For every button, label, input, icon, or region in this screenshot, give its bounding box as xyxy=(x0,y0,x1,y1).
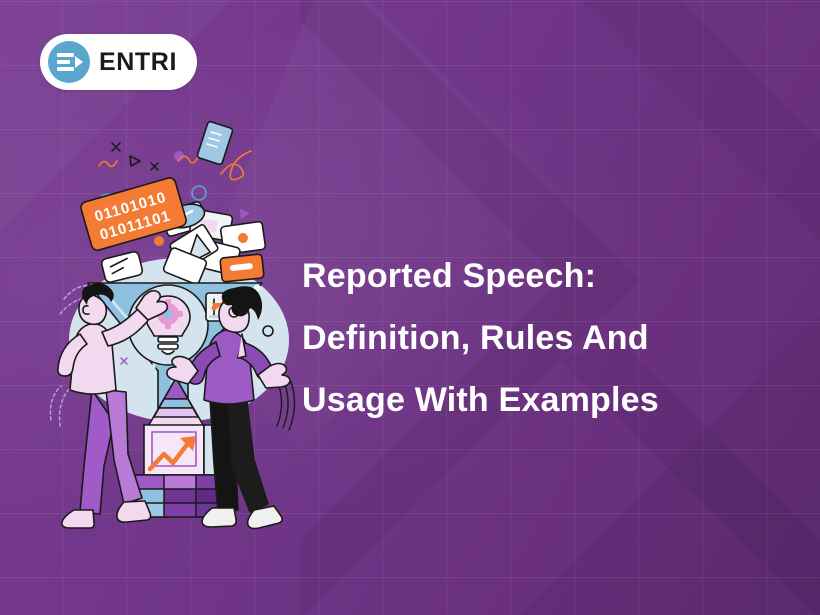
data-funnel-illustration: 01101010 01011101 xyxy=(46,128,306,478)
decor-motion-lines xyxy=(277,382,295,430)
decor-dot-orange xyxy=(154,236,164,246)
entri-logo[interactable]: ENTRI xyxy=(40,34,197,90)
brand-name: ENTRI xyxy=(99,50,177,75)
title-line-1: Reported Speech: xyxy=(302,245,772,307)
decor-triangle-purple xyxy=(240,209,250,219)
growth-arrow-chart-icon xyxy=(144,425,216,475)
decor-triangle-outline xyxy=(130,156,140,166)
decor-circle-blue xyxy=(192,186,206,200)
entri-e-play-icon xyxy=(48,41,90,83)
binary-data-card: 01101010 01011101 xyxy=(80,177,188,252)
title-line-3: Usage With Examples xyxy=(302,369,772,431)
title-line-2: Definition, Rules And xyxy=(302,307,772,369)
page-title: Reported Speech: Definition, Rules And U… xyxy=(302,245,772,431)
blog-thumbnail-banner: ENTRI Reported Speech: Definition, Rules… xyxy=(0,0,820,615)
